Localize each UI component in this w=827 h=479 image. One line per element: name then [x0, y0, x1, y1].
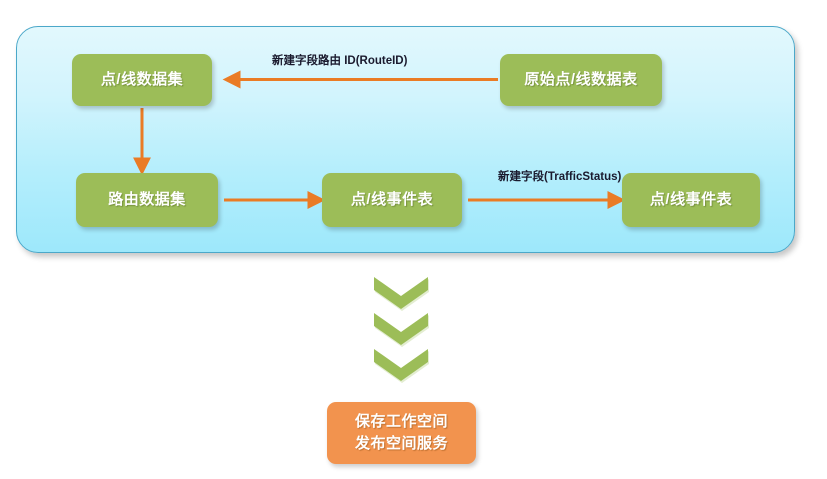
node-route-dataset[interactable]: 路由数据集	[76, 173, 218, 227]
node-point-line-event-table-2[interactable]: 点/线事件表	[622, 173, 760, 227]
chevron-down-icon	[374, 277, 429, 311]
edge-label-trafficstatus: 新建字段(TrafficStatus)	[498, 168, 621, 184]
edge-label-routeid: 新建字段路由 ID(RouteID)	[272, 52, 407, 68]
node-point-line-event-table-1[interactable]: 点/线事件表	[322, 173, 462, 227]
save-workspace-line: 保存工作空间	[355, 411, 448, 433]
chevron-down-icon	[374, 349, 429, 383]
chevron-down-stack	[372, 277, 436, 383]
node-point-line-dataset[interactable]: 点/线数据集	[72, 54, 212, 106]
diagram-canvas: 新建字段路由 ID(RouteID) 新建字段(TrafficStatus) 点…	[0, 0, 827, 479]
chevron-down-icon	[374, 313, 429, 347]
node-save-workspace-publish-service[interactable]: 保存工作空间 发布空间服务	[327, 402, 476, 464]
node-source-point-line-data-table[interactable]: 原始点/线数据表	[500, 54, 662, 106]
publish-service-line: 发布空间服务	[355, 433, 448, 455]
